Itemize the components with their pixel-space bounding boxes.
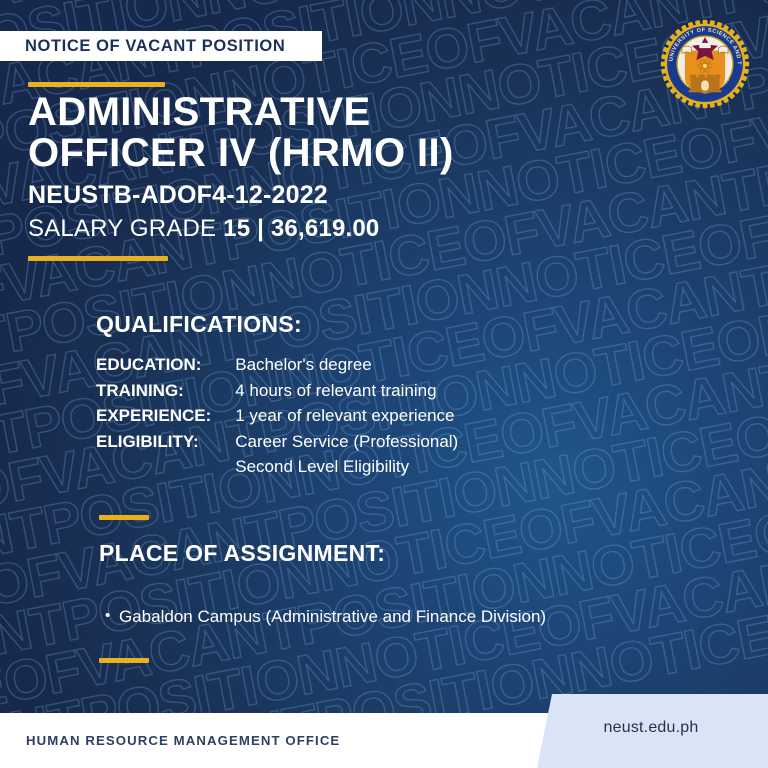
qualifications-table: EDUCATION:Bachelor's degreeTRAINING:4 ho… — [96, 353, 458, 481]
qualification-key — [96, 455, 235, 481]
qualification-key: TRAINING: — [96, 379, 235, 405]
qualification-value: Career Service (Professional) — [235, 430, 458, 456]
poster-canvas: NOTICEOFVACANTPOSITIONNOTICEOFVACANTPOSI… — [0, 0, 768, 768]
qualification-key: EDUCATION: — [96, 353, 235, 379]
place-of-assignment-block: PLACE OF ASSIGNMENT: Gabaldon Campus (Ad… — [99, 540, 546, 629]
footer-office-label: HUMAN RESOURCE MANAGEMENT OFFICE — [26, 713, 340, 768]
gold-rule-above-assignment — [99, 515, 149, 520]
place-of-assignment-list: Gabaldon Campus (Administrative and Fina… — [99, 605, 546, 629]
qualification-value: 4 hours of relevant training — [235, 379, 458, 405]
job-title-block: ADMINISTRATIVE OFFICER IV (HRMO II) NEUS… — [28, 92, 668, 244]
job-code: NEUSTB-ADOF4-12-2022 — [28, 179, 668, 212]
qualification-row: TRAINING:4 hours of relevant training — [96, 379, 458, 405]
qualification-row: Second Level Eligibility — [96, 455, 458, 481]
qualification-value: Second Level Eligibility — [235, 455, 458, 481]
place-of-assignment-heading: PLACE OF ASSIGNMENT: — [99, 540, 546, 567]
gold-rule-bottom — [99, 658, 149, 663]
qualifications-heading: QUALIFICATIONS: — [96, 311, 458, 338]
gold-rule-under-title — [28, 256, 168, 261]
job-title-line-1: ADMINISTRATIVE — [28, 92, 668, 133]
qualification-value: 1 year of relevant experience — [235, 404, 458, 430]
qualification-key: ELIGIBILITY: — [96, 430, 235, 456]
footer: HUMAN RESOURCE MANAGEMENT OFFICE neust.e… — [0, 693, 768, 768]
qualification-key: EXPERIENCE: — [96, 404, 235, 430]
salary-label: SALARY GRADE — [28, 215, 223, 242]
qualification-row: ELIGIBILITY:Career Service (Professional… — [96, 430, 458, 456]
notice-banner: NOTICE OF VACANT POSITION — [0, 31, 322, 61]
qualification-row: EXPERIENCE:1 year of relevant experience — [96, 404, 458, 430]
salary-line: SALARY GRADE 15 | 36,619.00 — [28, 213, 668, 244]
footer-website-label[interactable]: neust.edu.ph — [534, 694, 768, 768]
qualification-row: EDUCATION:Bachelor's degree — [96, 353, 458, 379]
neust-seal-logo-icon: NUEVA ECIJA UNIVERSITY OF SCIENCE AND TE… — [657, 16, 753, 112]
qualifications-block: QUALIFICATIONS: EDUCATION:Bachelor's deg… — [96, 311, 458, 481]
qualification-value: Bachelor's degree — [235, 353, 458, 379]
job-title-line-2: OFFICER IV (HRMO II) — [28, 133, 668, 174]
gold-rule-top — [28, 82, 165, 87]
salary-value: 15 | 36,619.00 — [223, 215, 379, 242]
notice-banner-label: NOTICE OF VACANT POSITION — [25, 37, 285, 56]
assignment-list-item: Gabaldon Campus (Administrative and Fina… — [119, 605, 546, 629]
